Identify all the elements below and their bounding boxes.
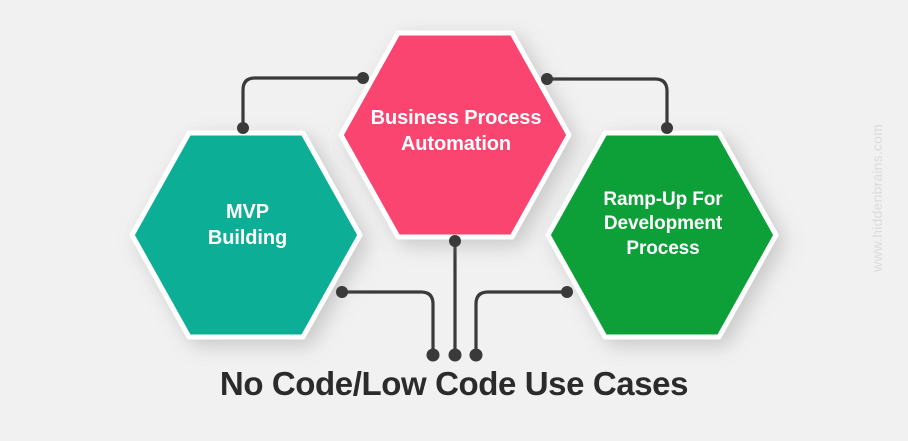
connector-dot-caption-center (449, 349, 462, 362)
hex-node-business-process-automation[interactable] (341, 33, 569, 237)
connector-ramp-to-caption (476, 292, 567, 355)
connector-dot-bpa-left (357, 72, 369, 84)
connector-mvp-to-caption (342, 292, 433, 355)
connector-dot-mvp-bottom (336, 286, 348, 298)
connector-dot-caption-right (470, 349, 483, 362)
diagram-title: No Code/Low Code Use Cases (0, 365, 908, 403)
connector-dot-ramp-bottom (561, 286, 573, 298)
connector-bpa-to-ramp (547, 79, 667, 128)
connector-dot-bpa-right (541, 73, 553, 85)
infographic-canvas: MVP Building Business Process Automation… (0, 0, 908, 441)
watermark-text: www.hiddenbrains.com (869, 83, 885, 313)
hex-node-mvp-building[interactable] (132, 133, 360, 337)
hex-node-ramp-up-for-development-process[interactable] (548, 133, 776, 337)
hex-shape-ramp-up-for-development-process (548, 133, 776, 337)
connector-dot-bpa-bottom (449, 235, 461, 247)
connector-dot-mvp-top (237, 122, 249, 134)
connector-dot-ramp-top (661, 122, 673, 134)
hex-shape-business-process-automation (341, 33, 569, 237)
connector-mvp-to-bpa (243, 78, 363, 128)
connector-dot-caption-left (427, 349, 440, 362)
hex-shape-mvp-building (132, 133, 360, 337)
